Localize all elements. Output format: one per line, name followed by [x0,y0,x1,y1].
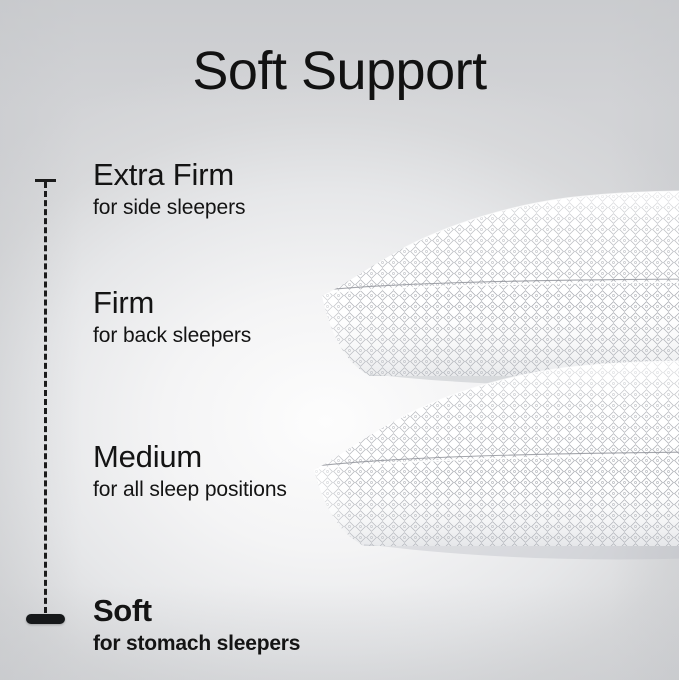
firmness-level-description: for side sleepers [93,195,245,220]
firmness-level-description: for back sleepers [93,323,251,348]
scale-selected-marker [26,614,65,624]
firmness-scale [22,170,70,635]
firmness-level-name: Medium [93,440,287,473]
stacked-pillows-image [300,180,679,570]
scale-dashed-line [44,182,47,622]
firmness-level-extra-firm[interactable]: Extra Firm for side sleepers [93,158,245,221]
firmness-level-name: Extra Firm [93,158,245,191]
firmness-level-medium[interactable]: Medium for all sleep positions [93,440,287,503]
firmness-level-description: for stomach sleepers [93,631,300,656]
firmness-level-name: Soft [93,594,300,627]
page-title: Soft Support [0,44,679,98]
firmness-level-name: Firm [93,286,251,319]
firmness-level-firm[interactable]: Firm for back sleepers [93,286,251,349]
soft-support-infographic: Soft Support Extra Firm for side sleeper… [0,0,679,680]
pillow-upper [300,180,679,387]
firmness-level-description: for all sleep positions [93,477,287,502]
firmness-level-soft[interactable]: Soft for stomach sleepers [93,594,300,657]
